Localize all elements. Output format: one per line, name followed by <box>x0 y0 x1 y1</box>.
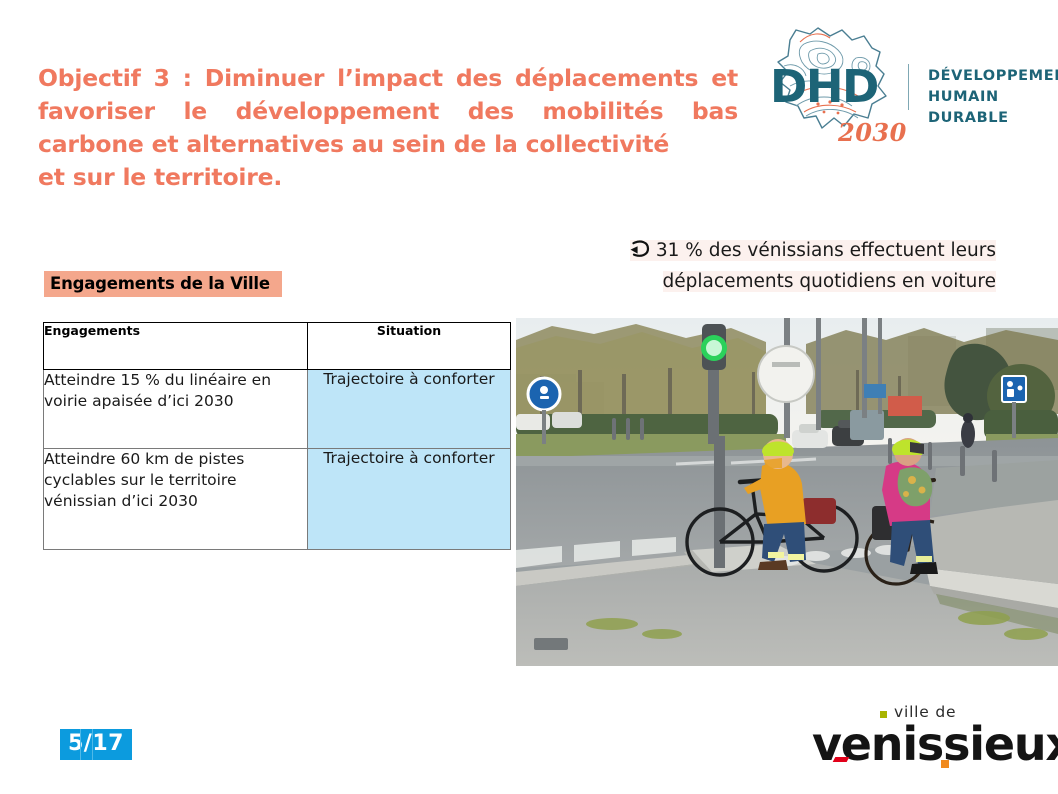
dhd-tagline-line-1: DÉVELOPPEMENT <box>928 66 1058 87</box>
title-line-2: favoriser le développement des mobilités… <box>38 97 738 125</box>
page-number-text: 5/17 <box>68 731 124 756</box>
logo-orange-square-icon <box>941 760 949 768</box>
page-number-badge: 5/17 <box>60 729 132 760</box>
statistic-line-2-wrap: déplacements quotidiens en voiture <box>604 267 996 296</box>
table-header-row: Engagements Situation <box>44 323 511 370</box>
dhd-wordmark: DHD <box>770 64 878 109</box>
statistic-line-1-wrap: 31 % des vénissians effectuent leurs <box>604 236 996 267</box>
statistic-callout: 31 % des vénissians effectuent leurs dép… <box>604 236 996 296</box>
street-cyclists-photo <box>516 318 1058 666</box>
dhd-tagline: DÉVELOPPEMENT HUMAIN DURABLE <box>928 66 1058 129</box>
page-title: Objectif 3 : Diminuer l’impact des dépla… <box>38 62 738 194</box>
statistic-line-1-bg: 31 % des vénissians effectuent leurs <box>630 240 996 261</box>
statistic-line-1: 31 % des vénissians effectuent leurs <box>656 240 996 261</box>
section-heading: Engagements de la Ville <box>44 271 282 297</box>
table-row: Atteindre 15 % du linéaire en voirie apa… <box>44 370 511 449</box>
title-line-4: et sur le territoire. <box>38 161 738 194</box>
cell-engagement: Atteindre 15 % du linéaire en voirie apa… <box>44 370 308 449</box>
cell-engagement: Atteindre 60 km de pistes cyclables sur … <box>44 449 308 550</box>
title-line-3: carbone et alternatives au sein de la co… <box>38 130 669 158</box>
curved-arrow-icon <box>630 238 650 267</box>
table-row: Atteindre 60 km de pistes cyclables sur … <box>44 449 511 550</box>
column-header-engagements: Engagements <box>44 323 308 370</box>
title-line-1: Objectif 3 : Diminuer l’impact des dépla… <box>38 64 738 92</box>
engagements-table: Engagements Situation Atteindre 15 % du … <box>43 322 511 550</box>
cell-situation: Trajectoire à conforter <box>308 370 511 449</box>
dhd-logo: DHD 2030 DÉVELOPPEMENT HUMAIN DURABLE <box>760 22 1050 142</box>
dhd-year: 2030 <box>838 118 907 147</box>
logo-city-name: venissieux <box>812 719 1058 769</box>
logo-red-slash-icon <box>833 757 850 762</box>
venissieux-logo: ville de venissieux <box>812 703 1042 775</box>
logo-divider <box>908 64 909 110</box>
column-header-situation: Situation <box>308 323 511 370</box>
statistic-line-2: déplacements quotidiens en voiture <box>663 271 996 292</box>
cell-situation: Trajectoire à conforter <box>308 449 511 550</box>
dhd-tagline-line-2: HUMAIN DURABLE <box>928 87 1058 129</box>
